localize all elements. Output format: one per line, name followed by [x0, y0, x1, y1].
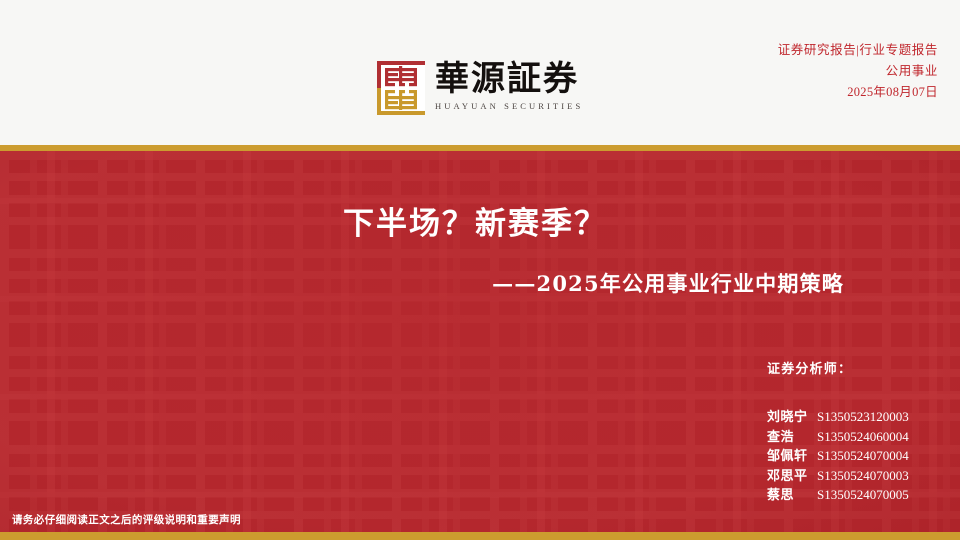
analyst-name: 查浩: [767, 426, 817, 445]
list-item: 蔡思 S1350524070005: [767, 484, 909, 504]
analyst-license-code: S1350524070004: [817, 448, 909, 464]
analyst-block: 证券分析师： 刘晓宁 S1350523120003 查浩 S1350524060…: [767, 358, 909, 504]
report-industry: 公用事业: [778, 61, 938, 82]
list-item: 查浩 S1350524060004: [767, 426, 909, 446]
analyst-name: 蔡思: [767, 484, 817, 503]
header-meta: 证券研究报告|行业专题报告 公用事业 2025年08月07日: [778, 40, 938, 103]
page-subtitle: ——2025年公用事业行业中期策略: [0, 268, 844, 298]
brand-name-cn: 華源証券: [435, 58, 583, 100]
page-header: 華源証券 HUAYUAN SECURITIES 证券研究报告|行业专题报告 公用…: [0, 0, 960, 145]
gold-divider-bottom: [0, 532, 960, 540]
list-item: 邹佩轩 S1350524070004: [767, 445, 909, 465]
analyst-license-code: S1350524070003: [817, 468, 909, 484]
analyst-name: 邹佩轩: [767, 445, 817, 464]
analyst-section-label: 证券分析师：: [767, 358, 909, 377]
analyst-list: 刘晓宁 S1350523120003 查浩 S1350524060004 邹佩轩…: [767, 406, 909, 504]
huayuan-seal-emblem-icon: [377, 61, 425, 115]
brand-name-en: HUAYUAN SECURITIES: [435, 101, 583, 111]
report-cover-page: 華源証券 HUAYUAN SECURITIES 证券研究报告|行业专题报告 公用…: [0, 0, 960, 540]
list-item: 刘晓宁 S1350523120003: [767, 406, 909, 426]
analyst-license-code: S1350524070005: [817, 487, 909, 503]
disclaimer-text: 请务必仔细阅读正文之后的评级说明和重要声明: [12, 512, 241, 527]
brand-wordmark: 華源証券 HUAYUAN SECURITIES: [435, 58, 583, 111]
analyst-name: 邓思平: [767, 465, 817, 484]
page-title: 下半场？新赛季？: [343, 198, 607, 243]
analyst-name: 刘晓宁: [767, 406, 817, 425]
list-item: 邓思平 S1350524070003: [767, 465, 909, 485]
analyst-license-code: S1350523120003: [817, 409, 909, 425]
brand-logo: 華源証券 HUAYUAN SECURITIES: [377, 58, 583, 115]
report-kind: 证券研究报告|行业专题报告: [778, 40, 938, 61]
analyst-license-code: S1350524060004: [817, 429, 909, 445]
report-date: 2025年08月07日: [778, 82, 938, 103]
